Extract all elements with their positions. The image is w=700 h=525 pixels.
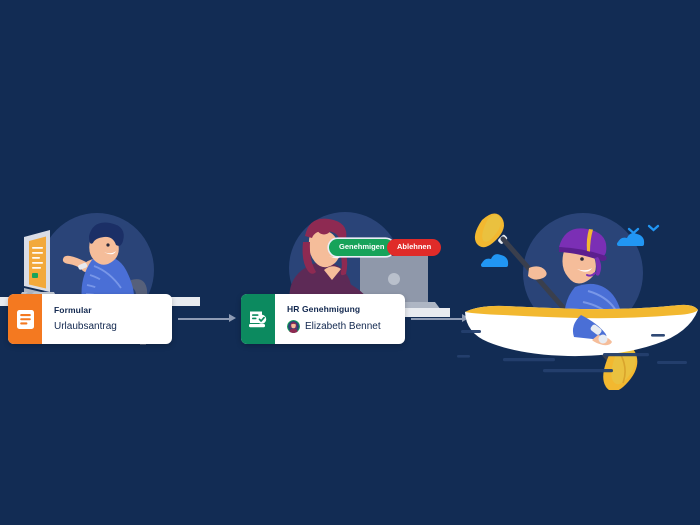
kayaker-on-water-illustration: [455, 195, 700, 390]
card-hr-title: HR Genehmigung: [287, 304, 395, 314]
card-formular-title: Formular: [54, 305, 162, 315]
connector-1-arrowhead: [229, 314, 236, 322]
card-hr-assignee: Elizabeth Bennet: [287, 320, 395, 333]
card-hr-genehmigung[interactable]: HR Genehmigung Elizabeth Bennet: [241, 294, 405, 344]
cloud-left-icon: [481, 254, 508, 267]
card-hr-assignee-name: Elizabeth Bennet: [305, 321, 381, 332]
diagram-canvas: Formular Urlaubsantrag: [0, 0, 700, 525]
badge-ablehnen[interactable]: Ablehnen: [387, 239, 441, 256]
bird-icon: [629, 226, 658, 233]
approval-checklist-icon: [241, 294, 275, 344]
card-formular[interactable]: Formular Urlaubsantrag: [8, 294, 172, 344]
connector-1-line: [178, 318, 230, 320]
card-hr-body: HR Genehmigung Elizabeth Bennet: [275, 294, 405, 344]
card-formular-value: Urlaubsantrag: [54, 321, 162, 332]
card-formular-body: Formular Urlaubsantrag: [42, 294, 172, 344]
form-document-icon: [8, 294, 42, 344]
elizabeth-bennet-avatar: [287, 320, 300, 333]
badge-genehmigen[interactable]: Genehmigen: [329, 239, 394, 256]
